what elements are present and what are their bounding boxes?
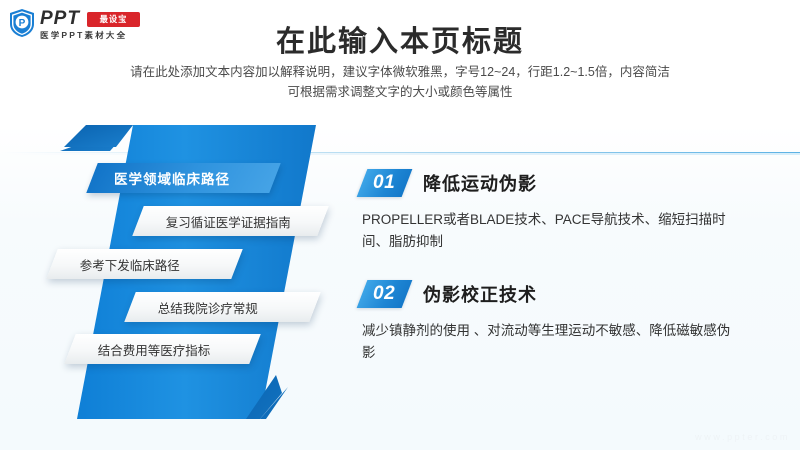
page-title: 在此输入本页标题 (0, 18, 800, 60)
diagram-bar-4-label: 总结我院诊疗常规 (130, 298, 258, 317)
section-02-number: 02 (373, 283, 395, 305)
section-01-title: 降低运动伪影 (423, 170, 537, 196)
diagram-bar-2[interactable]: 复习循证医学证据指南 (132, 206, 329, 236)
section-01-body: PROPELLER或者BLADE技术、PACE导航技术、缩短扫描时间、脂肪抑制 (362, 209, 734, 253)
diagram-bar-5-label: 结合费用等医疗指标 (70, 340, 211, 359)
section-01-number-badge: 01 (357, 169, 413, 197)
clinical-pathway-diagram: 医学领域临床路径 复习循证医学证据指南 参考下发临床路径 总结我院诊疗常规 结合… (30, 125, 360, 425)
section-02-header: 02 伪影校正技术 (362, 279, 762, 309)
page-subtitle-line-1: 请在此处添加文本内容加以解释说明，建议字体微软雅黑，字号12~24，行距1.2~… (0, 62, 800, 82)
diagram-bar-5[interactable]: 结合费用等医疗指标 (64, 334, 261, 364)
section-02-body: 减少镇静剂的使用 、对流动等生理运动不敏感、降低磁敏感伪影 (362, 320, 734, 364)
diagram-bar-3[interactable]: 参考下发临床路径 (46, 249, 243, 279)
diagram-bar-3-label: 参考下发临床路径 (52, 255, 180, 274)
section-02-title: 伪影校正技术 (423, 281, 537, 307)
section-02-number-badge: 02 (357, 280, 413, 308)
page-subtitle: 请在此处添加文本内容加以解释说明，建议字体微软雅黑，字号12~24，行距1.2~… (0, 62, 800, 102)
diagram-bar-2-label: 复习循证医学证据指南 (138, 212, 291, 231)
diagram-bar-1[interactable]: 医学领域临床路径 (86, 163, 281, 193)
section-01: 01 降低运动伪影 PROPELLER或者BLADE技术、PACE导航技术、缩短… (362, 168, 762, 253)
content-sections: 01 降低运动伪影 PROPELLER或者BLADE技术、PACE导航技术、缩短… (362, 168, 762, 390)
section-01-header: 01 降低运动伪影 (362, 168, 762, 198)
section-02: 02 伪影校正技术 减少镇静剂的使用 、对流动等生理运动不敏感、降低磁敏感伪影 (362, 279, 762, 364)
section-01-number: 01 (373, 172, 395, 194)
diagram-bar-1-label: 医学领域临床路径 (92, 168, 230, 188)
page-subtitle-line-2: 可根据需求调整文字的大小或颜色等属性 (0, 82, 800, 102)
site-watermark: www.ppter.com (695, 432, 790, 442)
diagram-bar-4[interactable]: 总结我院诊疗常规 (124, 292, 321, 322)
